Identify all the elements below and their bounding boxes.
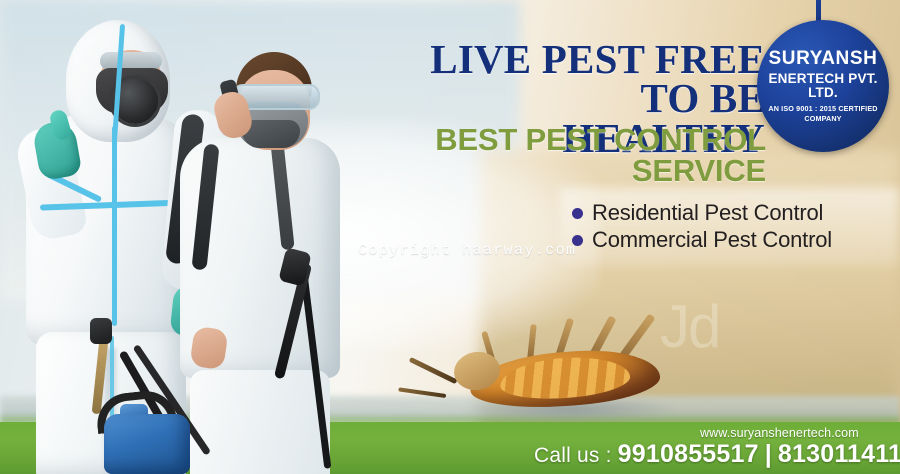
- subheadline: BEST PEST CONTROL SERVICE: [318, 124, 766, 186]
- worker2-legs: [190, 370, 330, 474]
- logo-iso-certification: AN ISO 9001 : 2015 CERTIFIED COMPANY: [767, 104, 879, 123]
- call-us-label: Call us :: [534, 444, 612, 468]
- contact-phone-row: Call us : 9910855517 | 8130114119: [534, 440, 900, 469]
- logo-company-name: SURYANSH: [769, 49, 878, 68]
- logo-company-subtitle: ENERTECH PVT. LTD.: [757, 72, 889, 99]
- worker1-zipper-tape: [112, 126, 117, 326]
- list-item: Residential Pest Control: [572, 200, 892, 227]
- website-url[interactable]: www.suryanshenertech.com: [700, 426, 859, 440]
- copyright-watermark: Copyright haarway.com: [358, 242, 576, 259]
- phone-number-secondary[interactable]: 8130114119: [778, 440, 900, 469]
- service-label: Residential Pest Control: [592, 200, 823, 227]
- company-logo-badge[interactable]: SURYANSH ENERTECH PVT. LTD. AN ISO 9001 …: [757, 20, 889, 152]
- worker-on-phone-figure: [180, 40, 360, 474]
- services-list: Residential Pest Control Commercial Pest…: [572, 200, 892, 254]
- service-label: Commercial Pest Control: [592, 227, 832, 254]
- list-item: Commercial Pest Control: [572, 227, 892, 254]
- bullet-dot-icon: [572, 208, 583, 219]
- sprayer-tank: [104, 414, 190, 474]
- phone-separator: |: [765, 440, 772, 469]
- phone-number-primary[interactable]: 9910855517: [618, 440, 759, 469]
- sprayer-lance-head: [90, 318, 112, 344]
- pest-control-banner: LIVE PEST FREE TO BE HEALTHY BEST PEST C…: [0, 0, 900, 474]
- overlay-watermark: Jd: [660, 292, 719, 361]
